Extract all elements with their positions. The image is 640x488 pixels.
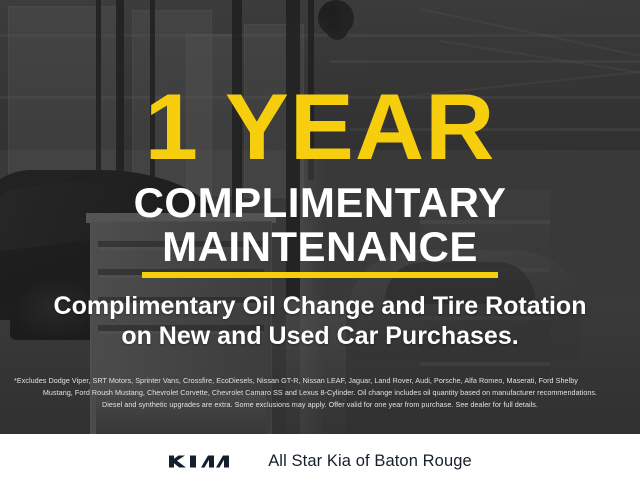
tagline-line-2: on New and Used Car Purchases. bbox=[0, 321, 640, 351]
banner-content: 1 YEAR COMPLIMENTARY MAINTENANCE Complim… bbox=[0, 0, 640, 434]
disclaimer-line-1: *Excludes Dodge Viper, SRT Motors, Sprin… bbox=[14, 375, 626, 387]
dealer-name: All Star Kia of Baton Rouge bbox=[268, 452, 472, 471]
promotional-banner: 1 YEAR COMPLIMENTARY MAINTENANCE Complim… bbox=[0, 0, 640, 488]
disclaimer-text: *Excludes Dodge Viper, SRT Motors, Sprin… bbox=[14, 375, 626, 410]
headline-one-year: 1 YEAR bbox=[0, 80, 640, 174]
disclaimer-line-2: Mustang, Ford Roush Mustang, Chevrolet C… bbox=[14, 387, 626, 399]
kia-logo bbox=[168, 452, 242, 471]
tagline-line-1: Complimentary Oil Change and Tire Rotati… bbox=[0, 291, 640, 321]
yellow-divider-rule bbox=[142, 272, 498, 278]
dealer-footer-bar: All Star Kia of Baton Rouge bbox=[0, 434, 640, 488]
subheadline-complimentary: COMPLIMENTARY bbox=[0, 180, 640, 226]
subheadline-maintenance: MAINTENANCE bbox=[0, 224, 640, 270]
disclaimer-line-3: Diesel and synthetic upgrades are extra.… bbox=[14, 399, 626, 411]
